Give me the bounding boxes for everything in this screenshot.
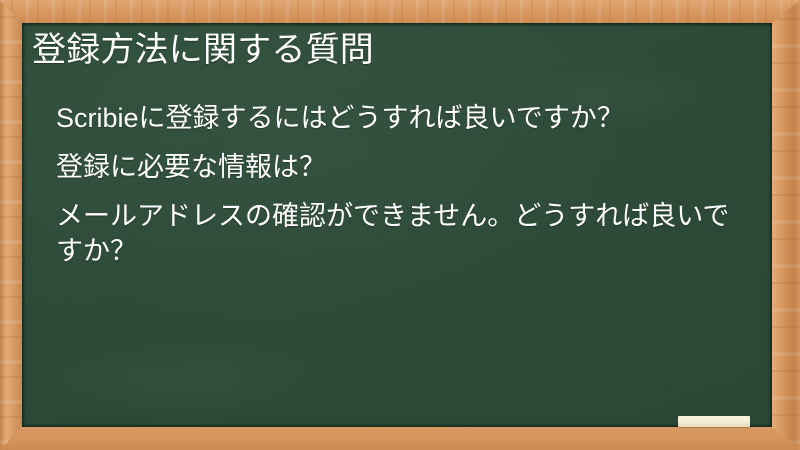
wood-frame-bottom-ledge [0, 427, 800, 450]
slide-content: 登録方法に関する質問 Scribieに登録するにはどうすれば良いですか？ 登録に… [22, 23, 772, 427]
wood-frame-left [0, 0, 22, 450]
question-list: Scribieに登録するにはどうすれば良いですか？ 登録に必要な情報は？ メール… [56, 101, 756, 283]
slide-title: 登録方法に関する質問 [32, 29, 752, 72]
wood-frame-right [772, 0, 800, 450]
wood-frame-top [0, 0, 800, 23]
list-item: Scribieに登録するにはどうすれば良いですか？ [56, 101, 756, 136]
list-item: メールアドレスの確認ができません。どうすれば良いですか？ [56, 199, 756, 269]
chalk-stick-icon [678, 416, 750, 427]
list-item: 登録に必要な情報は？ [56, 150, 756, 185]
chalkboard-slide: 登録方法に関する質問 Scribieに登録するにはどうすれば良いですか？ 登録に… [0, 0, 800, 450]
chalkboard-surface: 登録方法に関する質問 Scribieに登録するにはどうすれば良いですか？ 登録に… [22, 23, 772, 427]
